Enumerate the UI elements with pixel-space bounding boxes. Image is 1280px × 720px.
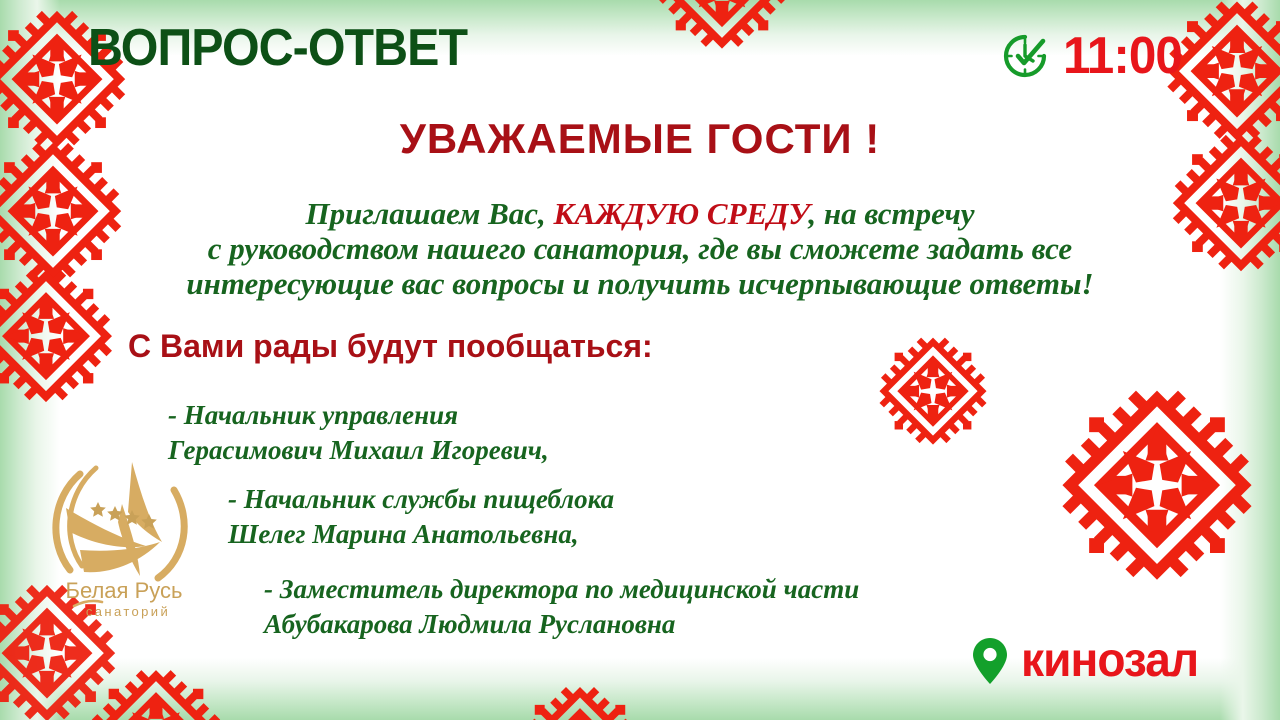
invitation-line-1-b: , на встречу [808, 196, 974, 231]
sanatorium-logo: Белая Русь санаторий [36, 446, 212, 626]
logo-name: Белая Русь [66, 578, 183, 603]
invitation-line-1: Приглашаем Вас, КАЖДУЮ СРЕДУ, на встречу [0, 196, 1280, 231]
logo-subtitle: санаторий [86, 604, 170, 619]
clock-check-icon [1001, 32, 1049, 80]
place-name: кинозал [1021, 637, 1198, 685]
invitation-line-1-a: Приглашаем Вас, [305, 196, 553, 231]
speaker-name-1: Герасимович Михаил Игоревич, [168, 433, 549, 468]
speaker-item-1: - Начальник управления Герасимович Михаи… [168, 398, 549, 467]
speaker-name-3: Абубакарова Людмила Руслановна [264, 607, 859, 642]
speaker-name-2: Шелег Марина Анатольевна, [228, 517, 614, 552]
logo-mark-icon: Белая Русь санаторий [36, 446, 212, 626]
invitation-highlight: КАЖДУЮ СРЕДУ [554, 196, 809, 231]
poster-canvas: ВОПРОС-ОТВЕТ 11:00 УВАЖАЕМЫЕ ГОСТИ ! При… [0, 0, 1280, 720]
invitation-text: Приглашаем Вас, КАЖДУЮ СРЕДУ, на встречу… [0, 196, 1280, 301]
invitation-line-3: интересующие вас вопросы и получить исче… [0, 266, 1280, 301]
speaker-item-2: - Начальник службы пищеблока Шелег Марин… [228, 482, 614, 551]
greeting-heading: УВАЖАЕМЫЕ ГОСТИ ! [0, 116, 1280, 162]
location-pin-icon [971, 636, 1009, 686]
speakers-heading: С Вами рады будут пообщаться: [128, 330, 653, 362]
page-title: ВОПРОС-ОТВЕТ [88, 22, 467, 74]
invitation-line-2: с руководством нашего санатория, где вы … [0, 231, 1280, 266]
speaker-item-3: - Заместитель директора по медицинской ч… [264, 572, 859, 641]
event-time: 11:00 [1063, 30, 1182, 82]
place-block: кинозал [971, 636, 1206, 686]
speaker-role-2: - Начальник службы пищеблока [228, 482, 614, 517]
time-block: 11:00 [1001, 30, 1188, 82]
speaker-role-1: - Начальник управления [168, 398, 549, 433]
speaker-role-3: - Заместитель директора по медицинской ч… [264, 572, 859, 607]
